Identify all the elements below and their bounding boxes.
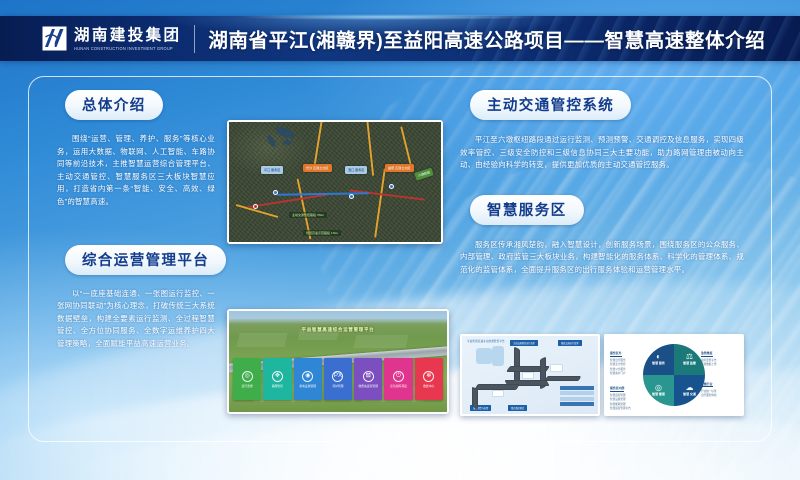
smart-transport-icon: ☁ [686,384,694,392]
overview-block: 总体介绍 围绕“运营、管理、养护、服务”等核心业务，运用大数据、物联网、人工智能… [57,90,215,209]
interchange-node [349,194,354,199]
page-title: 湖南省平江(湘赣界)至益阳高速公路项目——智慧高速整体介绍 [208,24,765,53]
module-tile-label: 应急指挥调度 [390,384,407,388]
quadrant-label: 智慧 管理 [652,393,665,397]
quad-right-labels: 监管维度 政府监管平台 监管数据上传 主题行业 行业统一标准 出行服务体验 [701,341,739,398]
header-bar: 湖南建投集团 HUNAN CONSTRUCTION INVESTMENT GRO… [0,16,800,61]
iso-road-segment [514,347,520,384]
quadrant-label: 智慧 交通 [683,393,696,397]
quad-right-group2-title: 主题行业 [701,382,713,388]
aerial-photo-title: 平益智慧高速综合运营管理平台 [302,327,375,333]
service-area-title: 智慧服务区 [470,195,584,225]
logo-english-name: HUNAN CONSTRUCTION INVESTMENT GROUP [74,44,181,52]
interchange-node [273,190,278,195]
farm-field [354,335,410,348]
platform-module-tiles: ◎ 运行监测 ✥ 路网管控 ◉ 机电设施管理 PX 养护管理 ⛾ 收费站运营 [233,358,443,400]
route-satellite-map-image: 平江 服务区 长沙 互通立交区 浯口 服务区 益阳 互通立交区 六墩枢纽 主动交… [227,120,443,244]
module-tile[interactable]: ✻ 数据中心 [415,358,443,400]
quad-left-item2: 智慧运营管理平台 [610,407,648,411]
module-tile[interactable]: ⛾ 收费站运营管理 [354,358,382,400]
module-tile-label: 养护管理 [332,384,343,388]
screenshot-panel-row: 平益智慧高速主动交通管控平台 主动交通管控运行态势 路段交通运行监测 重点路段管… [460,334,744,416]
iso-chip: 重点路段管控 [508,405,527,411]
iso-info-card [492,390,504,397]
service-area-block: 智慧服务区 服务区传承湘风楚韵，融入智慧设计，创新服务场景，围绕服务区的公众服务… [460,195,744,277]
logo-chinese-name: 湖南建投集团 [74,27,181,44]
module-tile-label: 收费站运营管理 [359,384,379,388]
module-tile-label: 机电设施管理 [299,384,316,388]
iso-decoration [476,348,492,364]
quadrant-smart-management[interactable]: ◎ 智慧 管理 [643,375,674,406]
quad-right-item2: 出行服务体验 [701,394,739,398]
network-control-icon: ✥ [272,371,283,382]
iso-chip: 主动交通管控运行态势 [510,340,538,346]
map-callout-0: 平江 服务区 [261,166,283,174]
quadrant-diagram: ◐ 智慧 服务 ⚖ 智慧 监管 ◎ 智慧 管理 ☁ 智慧 交通 [643,344,705,406]
data-center-icon: ✻ [423,371,434,382]
module-tile[interactable]: ✥ 路网管控 [263,358,291,400]
iso-panel-title: 平益智慧高速主动交通管控平台 [467,339,505,343]
left-column: 总体介绍 围绕“运营、管理、养护、服务”等核心业务，运用大数据、物联网、人工智能… [57,90,215,351]
running-monitor-icon: ◎ [242,371,253,382]
module-tile[interactable]: ◎ 运行监测 [233,358,261,400]
emergency-dispatch-icon: ⏻ [393,371,404,382]
iso-chip: 路段交通运行监测 [558,340,582,346]
map-callout-2: 浯口 服务区 [345,166,367,174]
interchange-node [253,204,258,209]
iso-stat-bar [560,397,594,401]
atms-platform-screenshot: 平益智慧高速主动交通管控平台 主动交通管控运行态势 路段交通运行监测 重点路段管… [460,334,600,416]
right-column: 主动交通管控系统 平江至六墩枢纽路段通过运行监测、预测预警、交通调控及信息服务，… [460,90,744,277]
module-tile[interactable]: ◉ 机电设施管理 [294,358,322,400]
maintenance-icon: PX [332,371,343,382]
module-tile[interactable]: PX 养护管理 [324,358,352,400]
platform-body: 以“一底座基础连通、一张图运行监控、一张网协同联动”为核心理念，打破传统三大系统… [57,288,215,351]
iso-stats-list [560,386,594,406]
overview-title: 总体介绍 [65,90,163,120]
interchange-node [389,184,394,189]
iso-stat-bar [560,391,594,395]
iso-stat-bar [560,402,594,406]
module-tile[interactable]: ⏻ 应急指挥调度 [384,358,412,400]
module-tile-label: 数据中心 [423,384,434,388]
smart-supervision-icon: ⚖ [686,353,693,361]
logo-mark-svg [42,26,67,51]
module-tile-label: 路网管控 [272,384,283,388]
iso-road-segment [545,376,582,381]
iso-info-card [550,364,563,372]
atms-block: 主动交通管控系统 平江至六墩枢纽路段通过运行监测、预测预警、交通调控及信息服务，… [460,90,744,172]
map-callout-1: 长沙 互通立交区 [303,164,332,172]
atms-body: 平江至六墩枢纽路段通过运行监测、预测预警、交通调控及信息服务，实现四级效率管控、… [460,134,744,172]
company-logo: 湖南建投集团 HUNAN CONSTRUCTION INVESTMENT GRO… [42,26,181,51]
iso-info-card [522,372,534,379]
map-callout-3: 益阳 互通立交区 [385,164,414,172]
smart-service-area-diagram: 服务区外 智慧出行服务 智慧安全管控 智慧公共服务 智慧客户门户 服务区内部 智… [604,334,744,416]
quad-right-item: 监管数据上传 [701,363,739,367]
platform-title: 综合运营管理平台 [65,245,226,275]
platform-block: 综合运营管理平台 以“一底座基础连通、一张图运行监控、一张网协同联动”为核心理念… [57,245,215,351]
header-divider [194,25,195,53]
quad-left-group-title: 服务区外 [610,351,622,357]
satellite-texture [229,122,441,242]
farm-field [236,333,287,347]
poster-root: 湖南建投集团 HUNAN CONSTRUCTION INVESTMENT GRO… [0,0,800,480]
smart-service-icon: ◐ [656,353,661,361]
iso-decoration [492,346,504,366]
atms-title: 主动交通管控系统 [470,90,631,120]
map-measure-0: 主动交通管控路段 76km [289,212,327,218]
content-area: 总体介绍 围绕“运营、管理、养护、服务”等核心业务，运用大数据、物联网、人工智能… [0,76,800,456]
facility-management-icon: ◉ [302,371,313,382]
module-tile-label: 运行监测 [242,384,253,388]
company-logo-icon [42,26,67,51]
iso-road-segment [472,386,478,409]
quadrant-label: 智慧 服务 [652,362,665,366]
company-logo-text: 湖南建投集团 HUNAN CONSTRUCTION INVESTMENT GRO… [74,27,181,51]
map-measure-1: 智慧高速示范路段 17km [303,230,341,236]
aerial-highway-image: 平益智慧高速综合运营管理平台 ◎ 运行监测 ✥ 路网管控 ◉ 机电设施管理 PX… [227,309,449,414]
quadrant-label: 智慧 监管 [683,362,696,366]
quadrant-smart-service[interactable]: ◐ 智慧 服务 [643,344,674,375]
quad-right-group-title: 监管维度 [701,351,713,357]
smart-management-icon: ◎ [655,384,662,392]
overview-body: 围绕“运营、管理、养护、服务”等核心业务，运用大数据、物联网、人工智能、车路协同… [57,133,215,209]
toll-station-icon: ⛾ [363,371,374,382]
quad-left-group2-title: 服务区内部 [610,386,624,392]
iso-stat-bar [560,386,594,390]
service-area-body: 服务区传承湘风楚韵，融入智慧设计，创新服务场景，围绕服务区的公众服务、内部管理、… [460,239,744,277]
